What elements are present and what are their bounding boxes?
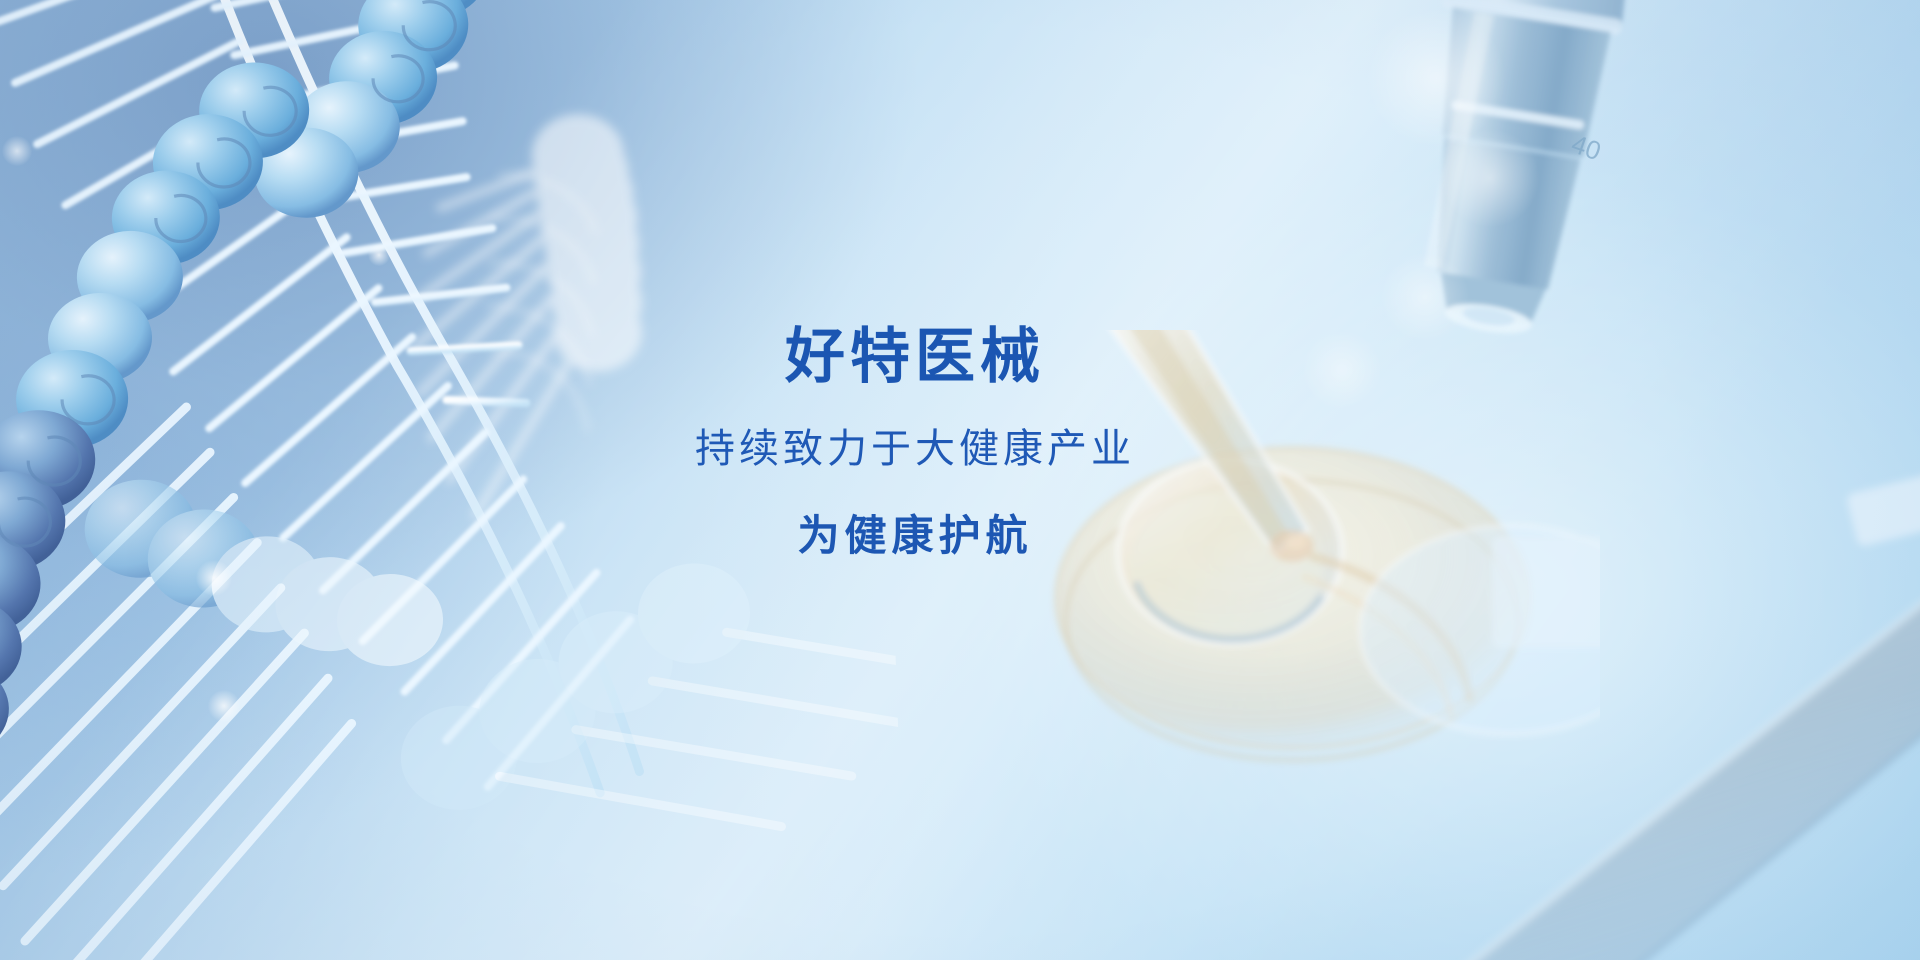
banner-subline: 持续致力于大健康产业 [695, 426, 1135, 472]
hero-banner: 40 [0, 0, 1920, 960]
banner-headline: 好特医械 [695, 324, 1135, 390]
banner-copy: 好特医械 持续致力于大健康产业 为健康护航 [0, 0, 1920, 960]
banner-tagline: 为健康护航 [695, 512, 1135, 560]
